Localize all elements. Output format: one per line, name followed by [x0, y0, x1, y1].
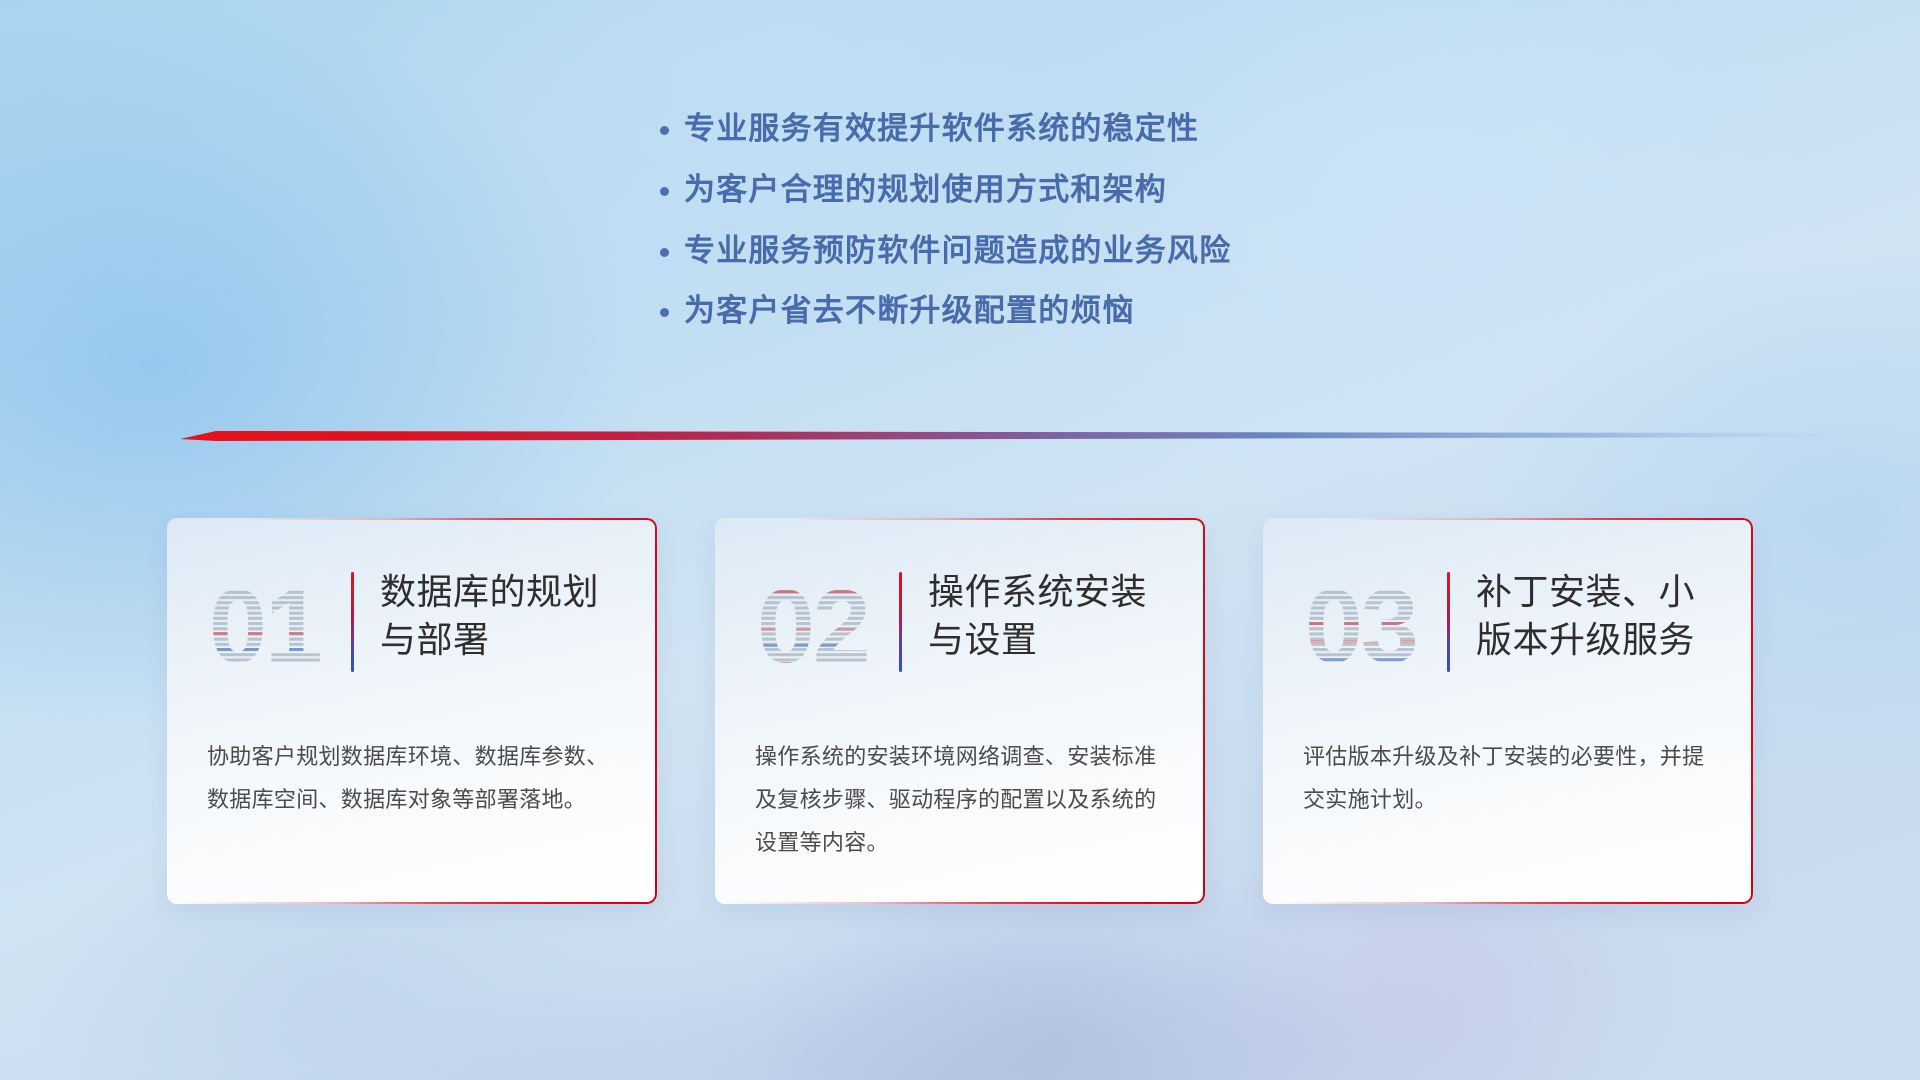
card-accent-rule: [899, 572, 902, 672]
card-body-text: 协助客户规划数据库环境、数据库参数、数据库空间、数据库对象等部署落地。: [207, 736, 617, 822]
service-card[interactable]: 02 操作系统安装与设置 操作系统的安装环: [715, 518, 1205, 904]
bullet-text: 专业服务有效提升软件系统的稳定性: [684, 110, 1199, 149]
bullet-dot-icon: [660, 295, 684, 321]
benefits-bullet-list: 专业服务有效提升软件系统的稳定性 为客户合理的规划使用方式和架构 专业服务预防软…: [660, 110, 1231, 353]
card-body-text: 操作系统的安装环境网络调查、安装标准及复核步骤、驱动程序的配置以及系统的设置等内…: [755, 736, 1165, 865]
bullet-text: 专业服务预防软件问题造成的业务风险: [684, 232, 1231, 271]
card-header: 02 操作系统安装与设置: [755, 566, 1165, 698]
card-title: 数据库的规划与部署: [380, 566, 617, 664]
card-body-text: 评估版本升级及补丁安装的必要性，并提交实施计划。: [1303, 736, 1713, 822]
card-header: 01 数据库的规划与部署: [207, 566, 617, 698]
service-card[interactable]: 03 补丁安装、小版本升级服务 评估版本升: [1263, 518, 1753, 904]
bullet-text: 为客户合理的规划使用方式和架构: [684, 171, 1167, 210]
service-card-row: 01 数据库的规划与部署 协助客户规划数据: [0, 518, 1920, 904]
list-item: 为客户合理的规划使用方式和架构: [660, 171, 1231, 210]
list-item: 专业服务预防软件问题造成的业务风险: [660, 232, 1231, 271]
card-header: 03 补丁安装、小版本升级服务: [1303, 566, 1713, 698]
slide-canvas: 专业服务有效提升软件系统的稳定性 为客户合理的规划使用方式和架构 专业服务预防软…: [0, 0, 1920, 1080]
card-title: 操作系统安装与设置: [928, 566, 1165, 664]
scanline-number-icon: 03: [1303, 570, 1433, 680]
card-accent-rule: [1447, 572, 1450, 672]
bullet-dot-icon: [660, 113, 684, 139]
list-item: 专业服务有效提升软件系统的稳定性: [660, 110, 1231, 149]
card-accent-rule: [351, 572, 354, 672]
scanline-number-icon: 02: [755, 570, 885, 680]
bullet-dot-icon: [660, 235, 684, 261]
divider-wedge-icon: [180, 424, 1840, 446]
bullet-text: 为客户省去不断升级配置的烦恼: [684, 292, 1135, 331]
list-item: 为客户省去不断升级配置的烦恼: [660, 292, 1231, 331]
bullet-dot-icon: [660, 174, 684, 200]
section-divider: [180, 424, 1840, 446]
card-number-glitch-icon: 03: [1303, 570, 1433, 680]
card-number-glitch-icon: 02: [755, 570, 885, 680]
card-number-glitch-icon: 01: [207, 570, 337, 680]
scanline-number-icon: 01: [207, 570, 337, 680]
service-card[interactable]: 01 数据库的规划与部署 协助客户规划数据: [167, 518, 657, 904]
card-title: 补丁安装、小版本升级服务: [1476, 566, 1713, 664]
